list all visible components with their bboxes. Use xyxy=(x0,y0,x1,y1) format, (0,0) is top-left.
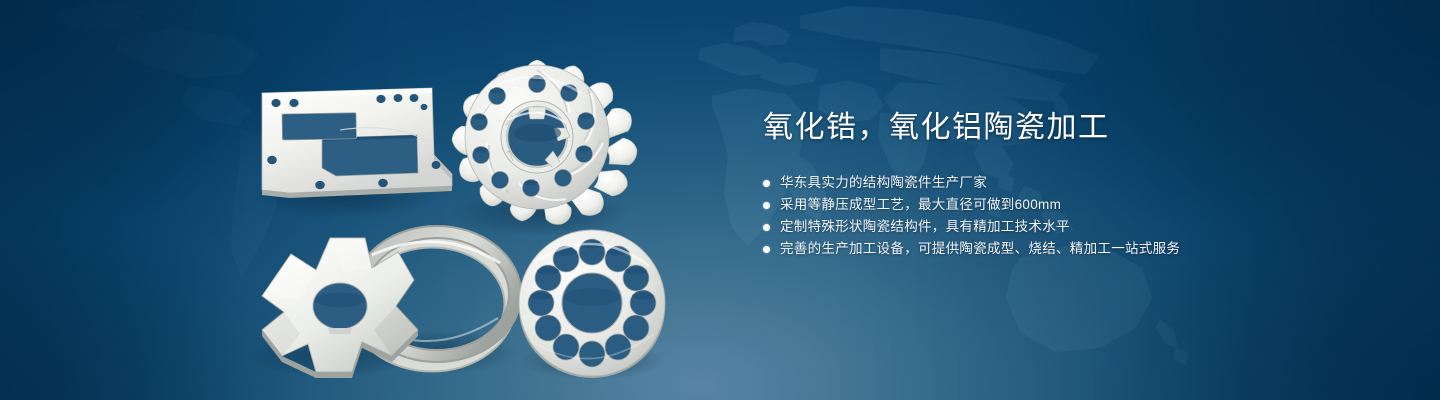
banner-text-column: 氧化锆，氧化铝陶瓷加工 华东具实力的结构陶瓷件生产厂家 采用等静压成型工艺，最大… xyxy=(763,108,1363,260)
feature-text: 定制特殊形状陶瓷结构件，具有精加工技术水平 xyxy=(780,216,1070,238)
feature-text: 华东具实力的结构陶瓷件生产厂家 xyxy=(780,172,987,194)
ceramic-machined-plate xyxy=(262,88,452,198)
feature-text: 采用等静压成型工艺，最大直径可做到600mm xyxy=(780,194,1061,216)
feature-list: 华东具实力的结构陶瓷件生产厂家 采用等静压成型工艺，最大直径可做到600mm 定… xyxy=(763,172,1363,260)
list-item: 华东具实力的结构陶瓷件生产厂家 xyxy=(763,172,1363,194)
feature-text: 完善的生产加工设备，可提供陶瓷成型、烧结、精加工一站式服务 xyxy=(780,238,1180,260)
bullet-dot-icon xyxy=(763,224,770,231)
page-title: 氧化锆，氧化铝陶瓷加工 xyxy=(763,108,1363,148)
ceramic-products-photo xyxy=(0,0,720,400)
bullet-dot-icon xyxy=(763,202,770,209)
list-item: 采用等静压成型工艺，最大直径可做到600mm xyxy=(763,194,1363,216)
promo-banner: 氧化锆，氧化铝陶瓷加工 华东具实力的结构陶瓷件生产厂家 采用等静压成型工艺，最大… xyxy=(0,0,1440,400)
bullet-dot-icon xyxy=(763,180,770,187)
list-item: 定制特殊形状陶瓷结构件，具有精加工技术水平 xyxy=(763,216,1363,238)
ceramic-perforated-disc xyxy=(519,230,665,378)
list-item: 完善的生产加工设备，可提供陶瓷成型、烧结、精加工一站式服务 xyxy=(763,238,1363,260)
bullet-dot-icon xyxy=(763,246,770,253)
